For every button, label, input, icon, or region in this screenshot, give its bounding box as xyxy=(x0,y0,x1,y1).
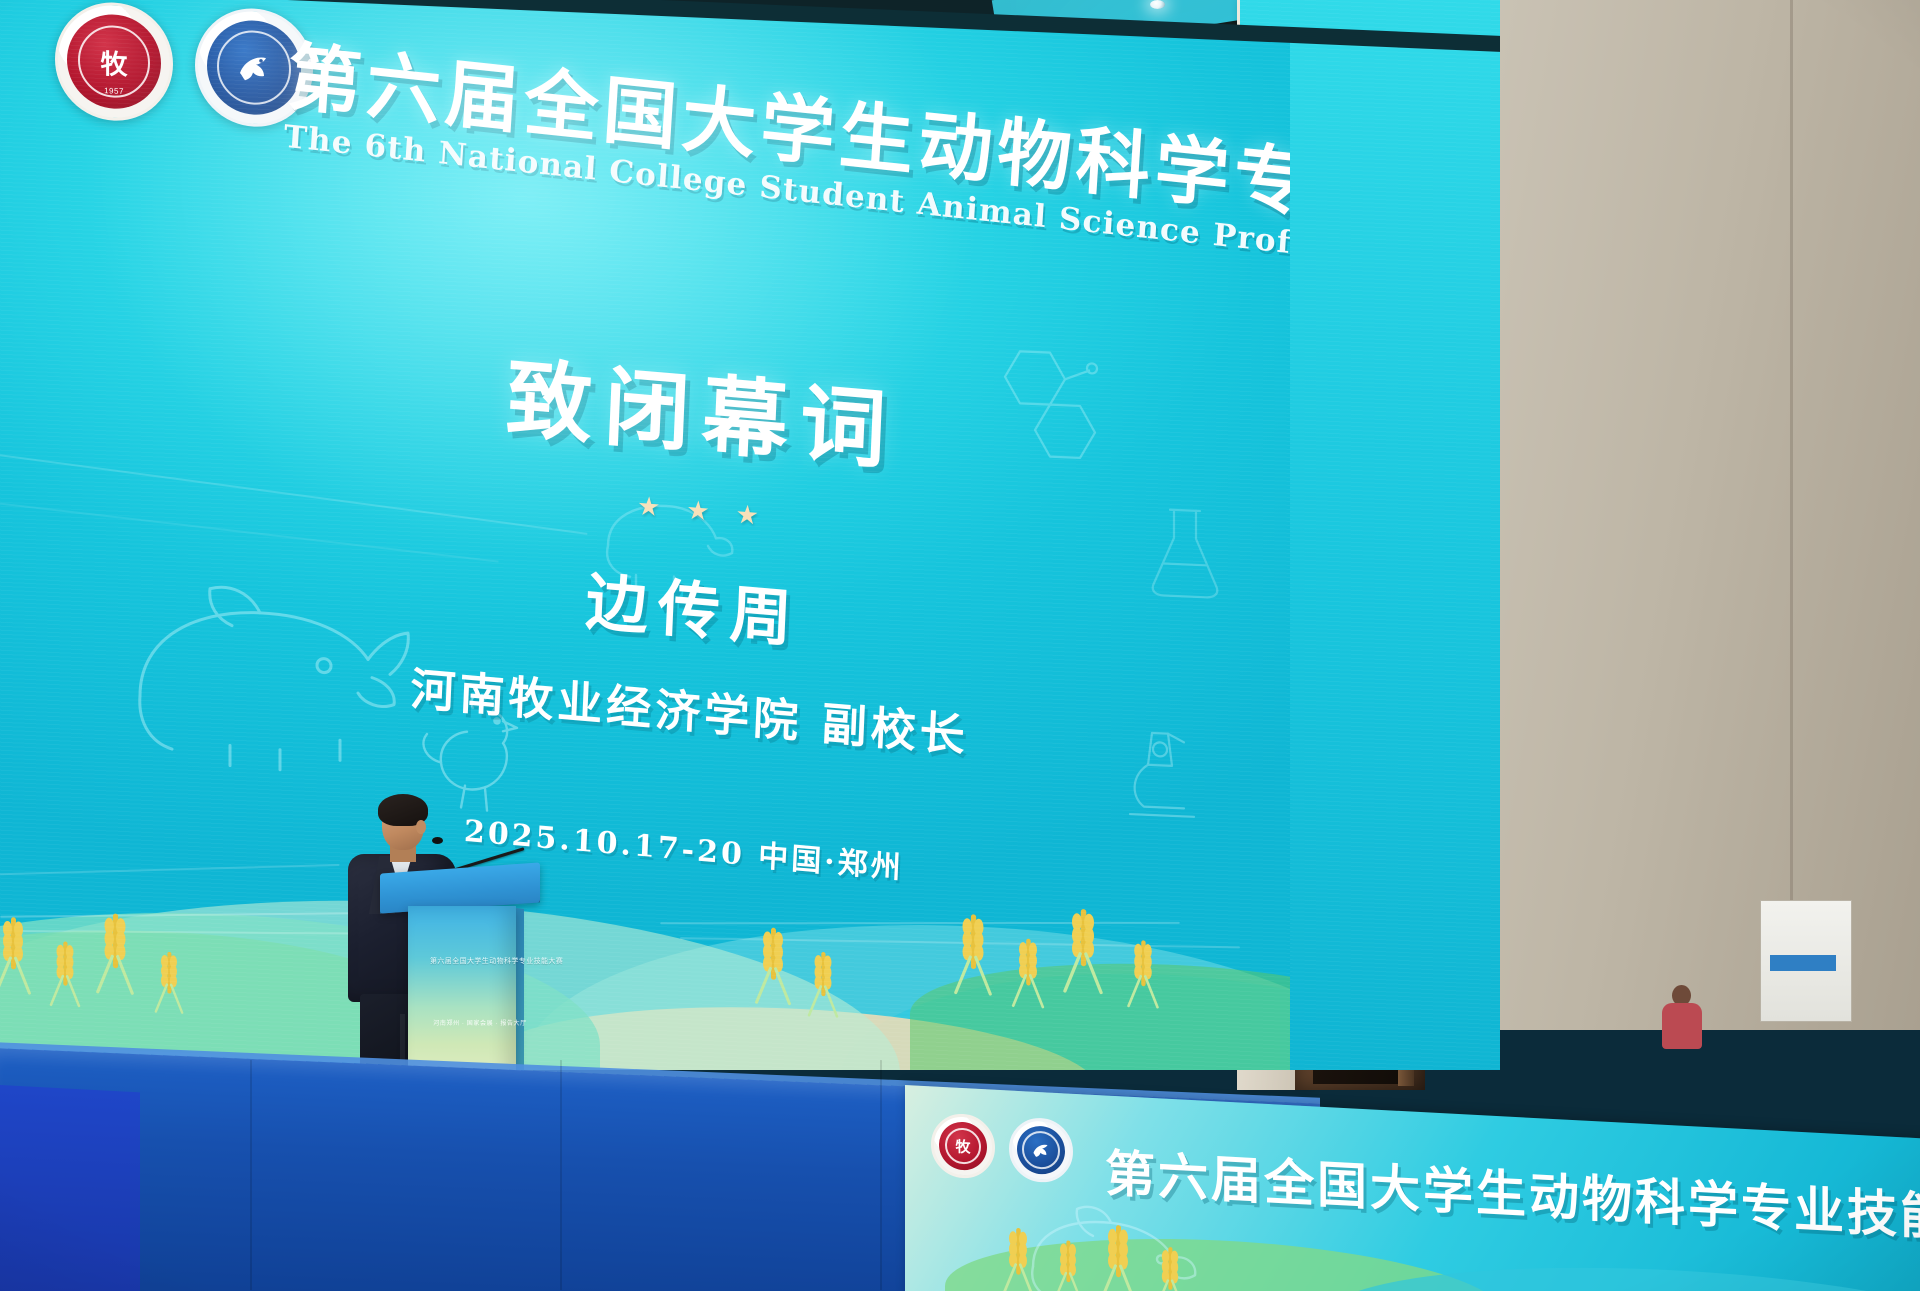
wheat-icon xyxy=(812,951,834,1020)
banner-logo-row: 牧 xyxy=(931,1112,1073,1183)
stage-skirt-fold xyxy=(880,1060,882,1290)
banner-wheat-icon xyxy=(1105,1224,1131,1291)
screen-logo-row: 牧 1957 xyxy=(55,0,313,129)
animal-emblem-icon xyxy=(230,43,278,93)
wheat-icon xyxy=(1016,938,1039,1011)
decor-wave-line xyxy=(0,864,340,876)
banner-wheat-icon xyxy=(1006,1227,1029,1291)
stage-skirt-fold xyxy=(250,1060,252,1290)
national-college-student-animal-science-logo xyxy=(1009,1116,1073,1183)
henan-university-animal-husbandry-economy-logo: 牧 1957 xyxy=(55,0,173,123)
speaker-podium: 第六届全国大学生动物科学专业技能大赛 河南郑州 · 国家会展 · 报告大厅 河南… xyxy=(390,868,530,1088)
led-screen: 牧 1957 第六届全国大学生动物科学专业技能大赛 The 6th Na xyxy=(0,0,1290,1070)
person-body xyxy=(1662,1003,1702,1049)
star-icon: ★ xyxy=(686,494,711,527)
microphone-head xyxy=(432,837,443,844)
banner-wheat-icon xyxy=(1058,1240,1079,1291)
stage-front-banner: 牧 第六届全国大学生动物科学专业技能大赛 xyxy=(905,1085,1920,1291)
wheat-icon xyxy=(1132,940,1155,1011)
led-screen-wrapper: 牧 1957 第六届全国大学生动物科学专业技能大赛 The 6th Na xyxy=(0,0,1500,1070)
wheat-icon xyxy=(101,913,128,998)
banner-wheat-icon xyxy=(1159,1247,1180,1291)
seated-audience-member xyxy=(1660,985,1704,1047)
stage-skirt-right-segment xyxy=(0,1085,140,1291)
wall-seam xyxy=(1790,0,1793,900)
wheat-icon xyxy=(1069,908,1098,997)
wall-poster-accent xyxy=(1770,955,1836,971)
animal-emblem-icon xyxy=(1028,1136,1054,1163)
conference-stage-photo: 牧 1957 第六届全国大学生动物科学专业技能大赛 The 6th Na xyxy=(0,0,1920,1291)
stage-skirt-fold xyxy=(560,1060,562,1290)
speaker-ear xyxy=(416,820,426,834)
henan-university-animal-husbandry-economy-logo: 牧 xyxy=(931,1112,995,1179)
microscope-line-art-icon xyxy=(1110,717,1210,831)
decor-wave-line xyxy=(660,922,1180,924)
screen-title-block: 第六届全国大学生动物科学专业技能大赛 The 6th National Coll… xyxy=(283,40,1248,256)
wheat-icon xyxy=(959,914,986,999)
wheat-icon xyxy=(159,951,180,1016)
podium-subtitle-text: 河南郑州 · 国家会展 · 报告大厅 xyxy=(430,1018,530,1027)
wheat-icon xyxy=(0,917,26,998)
wheat-icon xyxy=(760,927,786,1008)
podium-title-text: 第六届全国大学生动物科学专业技能大赛 xyxy=(430,956,530,966)
flask-line-art-icon xyxy=(1140,498,1230,602)
banner-title-text: 第六届全国大学生动物科学专业技能大赛 xyxy=(1105,1133,1920,1255)
star-icon: ★ xyxy=(636,490,661,523)
star-icon: ★ xyxy=(735,499,760,532)
wheat-icon xyxy=(54,941,76,1010)
